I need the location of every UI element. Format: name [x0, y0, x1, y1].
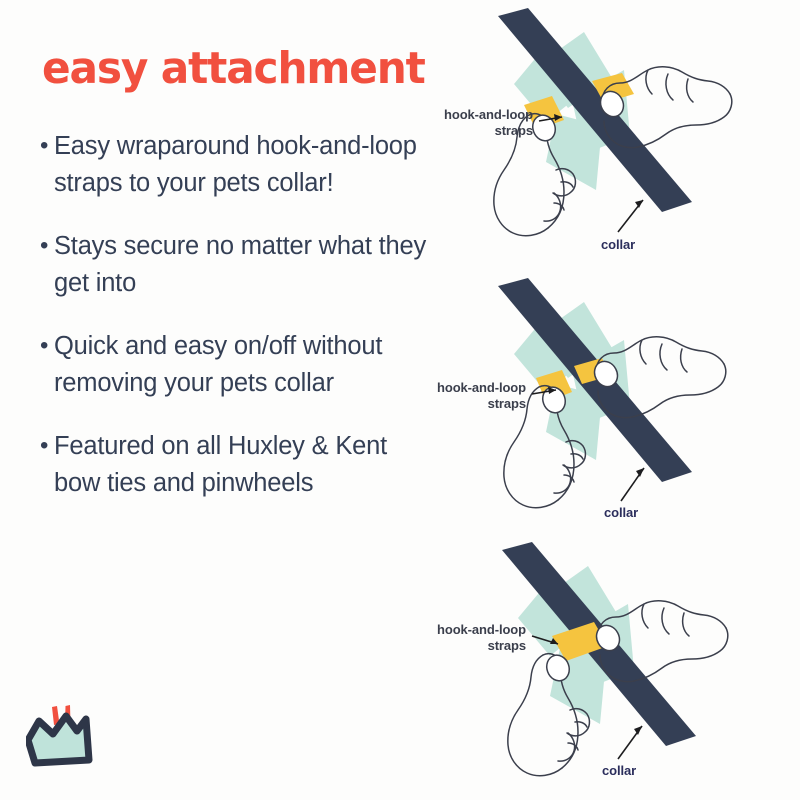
hook-and-loop-label-line1: hook-and-loop [444, 107, 533, 122]
bullet-marker-icon: • [40, 229, 54, 263]
bullet-text: Stays secure no matter what they get int… [54, 228, 429, 302]
list-item: • Stays secure no matter what they get i… [40, 228, 440, 302]
bullet-marker-icon: • [40, 129, 54, 163]
label-collar: collar [604, 468, 644, 520]
illustration-panel-step-2: hook-and-loop straps collar [396, 274, 800, 542]
illustration-panel-step-3: hook-and-loop straps collar [396, 534, 800, 802]
crown-shape-icon [28, 716, 89, 763]
illustration-panel-column: hook-and-loop straps collar [396, 0, 800, 800]
left-content-column: easy attachment • Easy wraparound hook-a… [0, 0, 430, 800]
hook-and-loop-label-line2: straps [495, 123, 533, 138]
arrow-up-right-icon [618, 200, 643, 232]
bullet-marker-icon: • [40, 429, 54, 463]
illustration-panel-step-1: hook-and-loop straps collar [396, 4, 800, 272]
crown-logo [26, 698, 112, 782]
hook-and-loop-label-line2: straps [488, 638, 526, 653]
arrow-up-right-icon [618, 726, 642, 759]
bullet-text: Easy wraparound hook-and-loop straps to … [54, 128, 429, 202]
bullet-text: Featured on all Huxley & Kent bow ties a… [54, 428, 429, 502]
list-item: • Featured on all Huxley & Kent bow ties… [40, 428, 440, 502]
arrow-up-right-icon [621, 468, 644, 501]
hook-and-loop-label-line2: straps [488, 396, 526, 411]
page-title: easy attachment [42, 44, 425, 94]
label-collar: collar [602, 726, 642, 778]
hook-and-loop-label-line1: hook-and-loop [437, 380, 526, 395]
label-hook-and-loop-straps: hook-and-loop straps [437, 380, 556, 411]
bullet-marker-icon: • [40, 329, 54, 363]
list-item: • Quick and easy on/off without removing… [40, 328, 440, 402]
bullet-text: Quick and easy on/off without removing y… [54, 328, 429, 402]
collar-label: collar [601, 237, 635, 252]
label-collar: collar [601, 200, 643, 252]
feature-bullet-list: • Easy wraparound hook-and-loop straps t… [40, 128, 440, 528]
collar-label: collar [604, 505, 638, 520]
list-item: • Easy wraparound hook-and-loop straps t… [40, 128, 440, 202]
collar-label: collar [602, 763, 636, 778]
hook-and-loop-label-line1: hook-and-loop [437, 622, 526, 637]
infographic-page: easy attachment • Easy wraparound hook-a… [0, 0, 800, 800]
